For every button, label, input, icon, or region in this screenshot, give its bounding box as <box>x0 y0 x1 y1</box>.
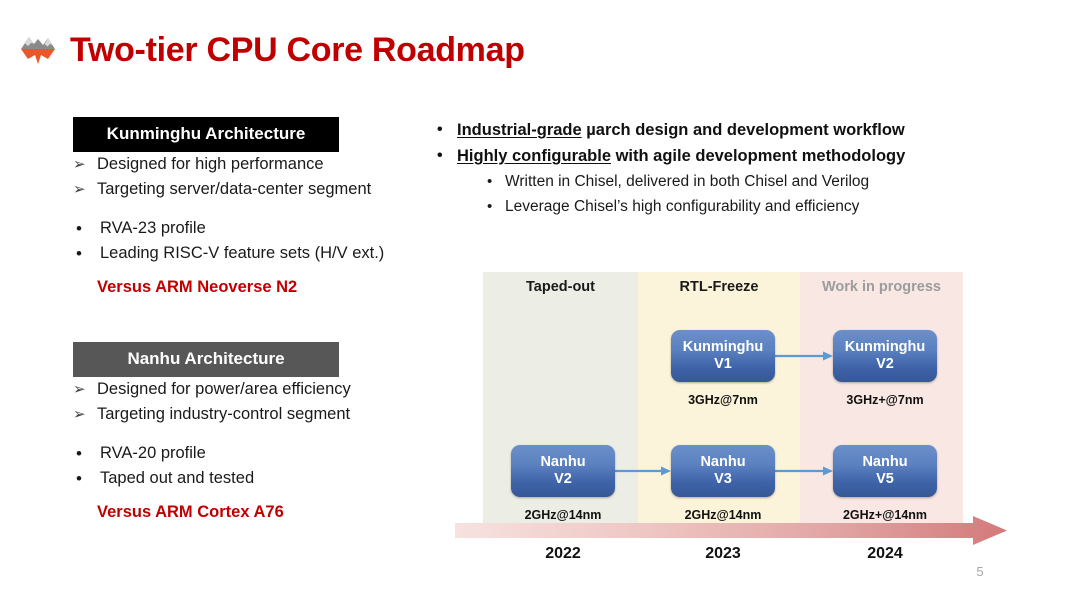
node-version: V5 <box>876 471 894 488</box>
arrow-bullet-icon: ➢ <box>73 402 97 427</box>
versus-label-kunminghu: Versus ARM Neoverse N2 <box>73 275 423 300</box>
list-item-label: Taped out and tested <box>100 466 254 491</box>
versus-label-nanhu: Versus ARM Cortex A76 <box>73 500 423 525</box>
nanhu-bullet-list: ➢ Designed for power/area efficiency ➢ T… <box>73 377 423 491</box>
arrow-bullet-icon: ➢ <box>73 377 97 402</box>
list-item: • RVA-23 profile <box>73 216 423 241</box>
list-item-label: RVA-23 profile <box>100 216 206 241</box>
list-item: ➢ Targeting industry-control segment <box>73 402 423 427</box>
spacer <box>73 427 423 441</box>
connector-arrow-nanhu-v3-to-v5 <box>775 465 833 477</box>
list-item: • Industrial-grade µarch design and deve… <box>437 117 1017 143</box>
node-version: V2 <box>554 471 572 488</box>
sub-list-item: • Leverage Chisel’s high configurability… <box>487 194 1017 219</box>
arrow-bullet-icon: ➢ <box>73 152 97 177</box>
sub-list-item-label: Written in Chisel, delivered in both Chi… <box>505 169 869 194</box>
dot-bullet-icon: • <box>487 169 505 194</box>
node-kunminghu-v1[interactable]: Kunminghu V1 <box>671 330 775 382</box>
arrow-bullet-icon: ➢ <box>73 177 97 202</box>
list-item-label: Designed for power/area efficiency <box>97 377 351 402</box>
node-name: Kunminghu <box>683 339 764 356</box>
emphasis-text: Industrial-grade <box>457 121 582 139</box>
page-title: Two-tier CPU Core Roadmap <box>70 31 525 70</box>
node-caption-kunminghu-v1: 3GHz@7nm <box>658 393 788 407</box>
dot-bullet-icon: • <box>73 441 100 466</box>
timeline-arrow-icon <box>455 515 1007 547</box>
dot-bullet-icon: • <box>73 241 100 266</box>
phase-label-taped-out: Taped-out <box>483 279 638 295</box>
list-item: • Highly configurable with agile develop… <box>437 143 1017 169</box>
node-name: Kunminghu <box>845 339 926 356</box>
list-item-label: RVA-20 profile <box>100 441 206 466</box>
kunminghu-bullet-list: ➢ Designed for high performance ➢ Target… <box>73 152 423 266</box>
sub-list-item-label: Leverage Chisel’s high configurability a… <box>505 194 859 219</box>
slide-title-row: Two-tier CPU Core Roadmap <box>18 30 525 70</box>
list-item: ➢ Designed for high performance <box>73 152 423 177</box>
spacer <box>73 202 423 216</box>
left-column: Kunminghu Architecture ➢ Designed for hi… <box>73 117 423 525</box>
dot-bullet-icon: • <box>73 216 100 241</box>
node-name: Nanhu <box>700 454 745 471</box>
right-column: • Industrial-grade µarch design and deve… <box>437 117 1017 219</box>
list-item: ➢ Targeting server/data-center segment <box>73 177 423 202</box>
list-item: ➢ Designed for power/area efficiency <box>73 377 423 402</box>
architecture-block-kunminghu: Kunminghu Architecture ➢ Designed for hi… <box>73 117 423 300</box>
list-item: • Leading RISC-V feature sets (H/V ext.) <box>73 241 423 266</box>
list-item-label: Designed for high performance <box>97 152 324 177</box>
list-item: • RVA-20 profile <box>73 441 423 466</box>
node-name: Nanhu <box>540 454 585 471</box>
node-version: V2 <box>876 356 894 373</box>
node-nanhu-v3[interactable]: Nanhu V3 <box>671 445 775 497</box>
sub-list-item: • Written in Chisel, delivered in both C… <box>487 169 1017 194</box>
architecture-block-nanhu: Nanhu Architecture ➢ Designed for power/… <box>73 342 423 525</box>
phase-label-work-in-progress: Work in progress <box>800 279 963 295</box>
node-name: Nanhu <box>862 454 907 471</box>
page-number: 5 <box>962 564 998 579</box>
list-item-label: Targeting industry-control segment <box>97 402 350 427</box>
phase-label-rtl-freeze: RTL-Freeze <box>638 279 800 295</box>
connector-arrow-kunminghu-v1-to-v2 <box>775 350 833 362</box>
dot-bullet-icon: • <box>437 117 457 143</box>
list-item-label: Targeting server/data-center segment <box>97 177 371 202</box>
emphasis-text: Highly configurable <box>457 147 611 165</box>
nanhu-architecture-header: Nanhu Architecture <box>73 342 339 377</box>
list-item-label: Industrial-grade µarch design and develo… <box>457 117 905 143</box>
list-item-label: Leading RISC-V feature sets (H/V ext.) <box>100 241 384 266</box>
dot-bullet-icon: • <box>73 466 100 491</box>
year-label-2023: 2023 <box>658 545 788 563</box>
node-caption-kunminghu-v2: 3GHz+@7nm <box>820 393 950 407</box>
dot-bullet-icon: • <box>437 143 457 169</box>
year-label-2024: 2024 <box>820 545 950 563</box>
list-item-rest: µarch design and development workflow <box>582 121 905 139</box>
mountain-logo-icon <box>18 30 58 70</box>
node-kunminghu-v2[interactable]: Kunminghu V2 <box>833 330 937 382</box>
list-item-label: Highly configurable with agile developme… <box>457 143 905 169</box>
node-version: V1 <box>714 356 732 373</box>
node-nanhu-v5[interactable]: Nanhu V5 <box>833 445 937 497</box>
connector-arrow-nanhu-v2-to-v3 <box>615 465 671 477</box>
year-label-2022: 2022 <box>498 545 628 563</box>
list-item-rest: with agile development methodology <box>611 147 905 165</box>
node-version: V3 <box>714 471 732 488</box>
roadmap-diagram: Taped-out RTL-Freeze Work in progress Ku… <box>455 262 1020 582</box>
list-item: • Taped out and tested <box>73 466 423 491</box>
kunminghu-architecture-header: Kunminghu Architecture <box>73 117 339 152</box>
node-nanhu-v2[interactable]: Nanhu V2 <box>511 445 615 497</box>
dot-bullet-icon: • <box>487 194 505 219</box>
